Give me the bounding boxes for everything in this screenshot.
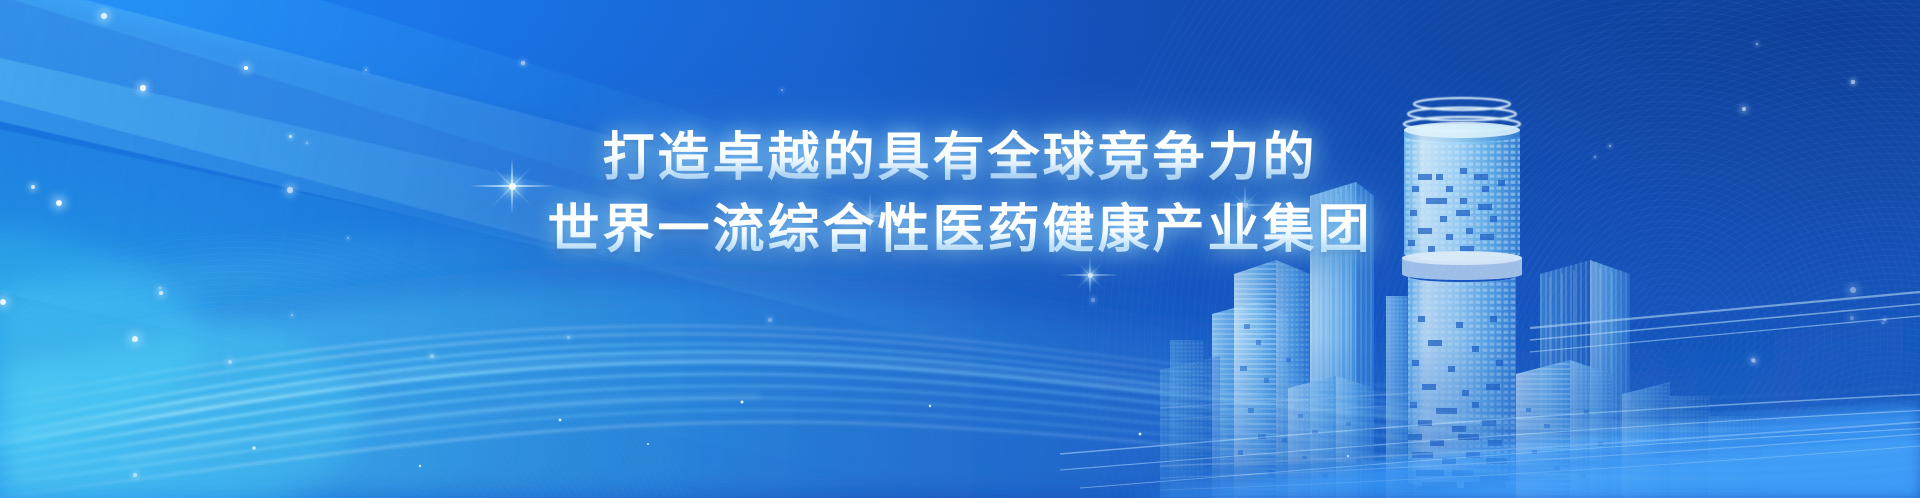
hero-banner: 打造卓越的具有全球竞争力的 世界一流综合性医药健康产业集团 xyxy=(0,0,1920,498)
city-skyline-icon xyxy=(1160,78,1920,498)
